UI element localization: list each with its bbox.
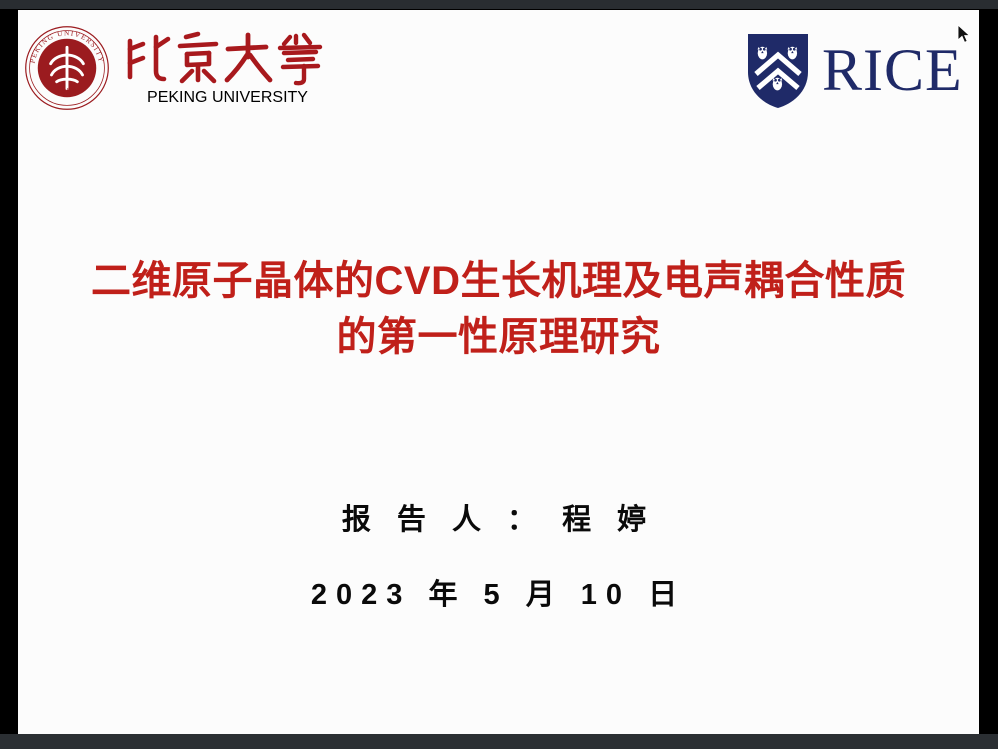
pku-chinese-name-icon <box>120 27 335 89</box>
rice-shield-icon <box>746 32 810 110</box>
logo-row: PEKING UNIVERSITY 1898 <box>18 10 979 135</box>
player-top-bar <box>0 0 998 9</box>
presentation-date: 2023 年 5 月 10 日 <box>18 571 979 613</box>
slide-title: 二维原子晶体的CVD生长机理及电声耦合性质 的第一性原理研究 <box>18 253 979 365</box>
pku-wordmark: PEKING UNIVERSITY <box>120 25 335 107</box>
video-player-frame: PEKING UNIVERSITY 1898 <box>0 0 998 749</box>
player-bottom-bar <box>0 734 998 749</box>
presentation-slide: PEKING UNIVERSITY 1898 <box>18 10 979 734</box>
peking-university-logo: PEKING UNIVERSITY 1898 <box>24 25 335 111</box>
peking-university-seal-icon: PEKING UNIVERSITY 1898 <box>24 25 110 111</box>
rice-wordmark: RICE <box>822 40 963 100</box>
presenter-label: 报 告 人 ： 程 婷 <box>18 496 979 538</box>
letterbox-right <box>979 9 998 734</box>
title-line-1: 二维原子晶体的CVD生长机理及电声耦合性质 <box>18 253 979 309</box>
letterbox-left <box>0 9 18 734</box>
title-line-2: 的第一性原理研究 <box>18 309 979 365</box>
rice-university-logo: RICE <box>746 32 963 110</box>
pku-english-name: PEKING UNIVERSITY <box>147 89 308 107</box>
